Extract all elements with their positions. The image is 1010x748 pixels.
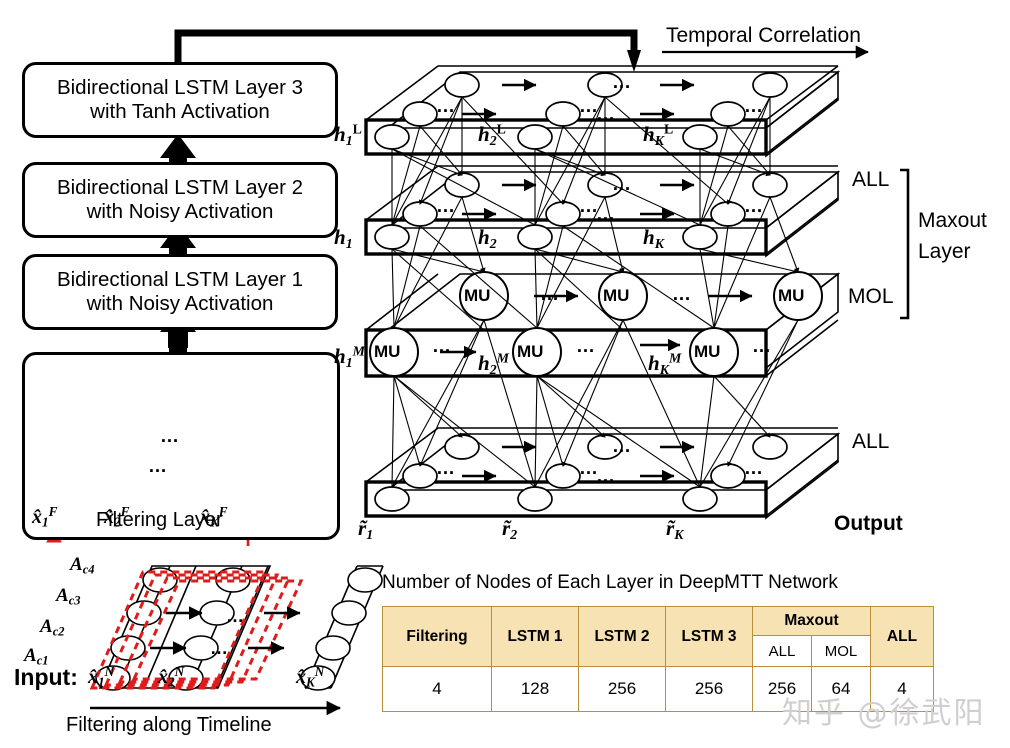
- label-Ac1: Ac1: [24, 645, 49, 669]
- lstm-layer-3-line2: with Tanh Activation: [90, 100, 270, 124]
- th-lstm1: LSTM 1: [492, 607, 579, 667]
- label-Ac2-text: Ac2: [40, 616, 65, 637]
- lstm-layer-3-box[interactable]: Bidirectional LSTM Layer 3 with Tanh Act…: [22, 62, 338, 138]
- temporal-correlation-label: Temporal Correlation: [666, 24, 861, 48]
- label-rK-text: r̃K: [666, 516, 683, 540]
- mu-label-6: MU: [778, 286, 804, 306]
- label-x1F-text: x̂1F: [32, 506, 57, 528]
- dots-p3-mu-a: …: [540, 284, 561, 306]
- table-header-row-1: Filtering LSTM 1 LSTM 2 LSTM 3 Maxout AL…: [383, 607, 934, 636]
- dots-p2-a: …: [436, 196, 457, 218]
- dots-p3-b: …: [576, 336, 597, 358]
- dots-p3-c: …: [752, 336, 773, 358]
- figure-canvas: Bidirectional LSTM Layer 3 with Tanh Act…: [0, 0, 1010, 748]
- label-r1: r̃1: [358, 516, 373, 543]
- th-lstm2: LSTM 2: [579, 607, 666, 667]
- label-x2N: x̂2N: [158, 664, 184, 691]
- timeline-label: Filtering along Timeline: [66, 714, 272, 737]
- label-xKN-text: x̂KN: [296, 666, 324, 688]
- label-r2: r̃2: [502, 516, 517, 543]
- all-label-upper: ALL: [852, 168, 889, 192]
- mu-label-5: MU: [694, 342, 720, 362]
- label-Ac3: Ac3: [56, 585, 81, 609]
- label-h1M-text: h1M: [334, 344, 365, 368]
- label-Ac3-text: Ac3: [56, 585, 81, 606]
- lstm-layer-2-line1: Bidirectional LSTM Layer 2: [57, 176, 303, 200]
- all-label-output: ALL: [852, 430, 889, 454]
- dots-p3-mu-b: …: [672, 284, 693, 306]
- filtering-layer-label: Filtering Layer: [96, 509, 223, 532]
- lstm-layer-3-line1: Bidirectional LSTM Layer 3: [57, 76, 303, 100]
- maxout-bracket: [900, 170, 908, 318]
- label-h1: h1: [334, 225, 353, 252]
- td-filtering: 4: [383, 667, 492, 712]
- label-x1N-text: x̂1N: [88, 666, 114, 688]
- nodes-plane-mol: [370, 272, 822, 376]
- mol-label: MOL: [848, 285, 894, 309]
- td-lstm3: 256: [666, 667, 753, 712]
- label-Ac4-text: Ac4: [70, 554, 95, 575]
- label-h1-text: h1: [334, 225, 353, 249]
- label-x1F: x̂1F: [32, 504, 57, 531]
- th-filtering: Filtering: [383, 607, 492, 667]
- lstm-layer-1-box[interactable]: Bidirectional LSTM Layer 1 with Noisy Ac…: [22, 254, 338, 330]
- output-label: Output: [834, 512, 903, 536]
- label-Ac2: Ac2: [40, 616, 65, 640]
- td-lstm2: 256: [579, 667, 666, 712]
- th-maxout-mol: MOL: [812, 636, 871, 667]
- th-all-output: ALL: [871, 607, 934, 667]
- dots-p4-mid: …: [596, 466, 617, 488]
- label-h1L: h1L: [334, 121, 362, 148]
- dots-input-b: …: [226, 606, 246, 627]
- dots-p2-mid: …: [596, 204, 617, 226]
- label-hK: hK: [643, 225, 664, 252]
- label-hKM: hKM: [648, 350, 681, 377]
- dots-p1-mid: …: [596, 104, 617, 126]
- label-h1M: h1M: [334, 343, 365, 370]
- dots-p2-c: …: [744, 196, 765, 218]
- label-Ac1-text: Ac1: [24, 645, 49, 666]
- label-hKM-text: hKM: [648, 351, 681, 375]
- maxout-layer-label-line1: Maxout: [918, 209, 987, 233]
- maxout-layer-label-line2: Layer: [918, 240, 971, 264]
- label-hK-text: hK: [643, 225, 664, 249]
- label-h2-text: h2: [478, 225, 497, 249]
- lstm-layer-1-line2: with Noisy Activation: [87, 292, 274, 316]
- mu-label-4: MU: [603, 286, 629, 306]
- label-Ac4: Ac4: [70, 554, 95, 578]
- table-title: Number of Nodes of Each Layer in DeepMTT…: [382, 572, 838, 594]
- th-maxout-all: ALL: [753, 636, 812, 667]
- dots-p1-a: …: [436, 96, 457, 118]
- dots-p1-c: …: [744, 96, 765, 118]
- dots-filter-b: …: [148, 456, 169, 478]
- td-lstm1: 128: [492, 667, 579, 712]
- label-xKN: x̂KN: [296, 664, 324, 691]
- label-h2M: h2M: [478, 350, 509, 377]
- dots-p2-mid-top: …: [612, 174, 633, 196]
- mu-label-2: MU: [464, 286, 490, 306]
- th-maxout-group: Maxout: [753, 607, 871, 636]
- label-h2M-text: h2M: [478, 351, 509, 375]
- label-hKL-text: hKL: [643, 122, 673, 146]
- dots-p3-a: …: [432, 336, 453, 358]
- dots-p4-mid-top: …: [612, 436, 633, 458]
- dots-p1-mid-top: …: [612, 72, 633, 94]
- dots-filter-a: …: [160, 426, 181, 448]
- watermark: 知乎 @徐武阳: [782, 688, 986, 732]
- label-h2: h2: [478, 225, 497, 252]
- label-h1L-text: h1L: [334, 122, 362, 146]
- label-x2N-text: x̂2N: [158, 666, 184, 688]
- label-rK: r̃K: [666, 516, 683, 543]
- label-r1-text: r̃1: [358, 516, 373, 540]
- dots-input-a: …: [210, 638, 230, 659]
- lstm-layer-2-box[interactable]: Bidirectional LSTM Layer 2 with Noisy Ac…: [22, 162, 338, 238]
- dots-p4-c: …: [744, 458, 765, 480]
- lstm-layer-1-line1: Bidirectional LSTM Layer 1: [57, 268, 303, 292]
- th-lstm3: LSTM 3: [666, 607, 753, 667]
- dots-p4-a: …: [436, 458, 457, 480]
- label-h2L-text: h2L: [478, 122, 506, 146]
- label-hKL: hKL: [643, 121, 673, 148]
- mu-label-3: MU: [517, 342, 543, 362]
- label-x1N: x̂1N: [88, 664, 114, 691]
- label-h2L: h2L: [478, 121, 506, 148]
- mu-label-1: MU: [374, 342, 400, 362]
- lstm-layer-2-line2: with Noisy Activation: [87, 200, 274, 224]
- label-r2-text: r̃2: [502, 516, 517, 540]
